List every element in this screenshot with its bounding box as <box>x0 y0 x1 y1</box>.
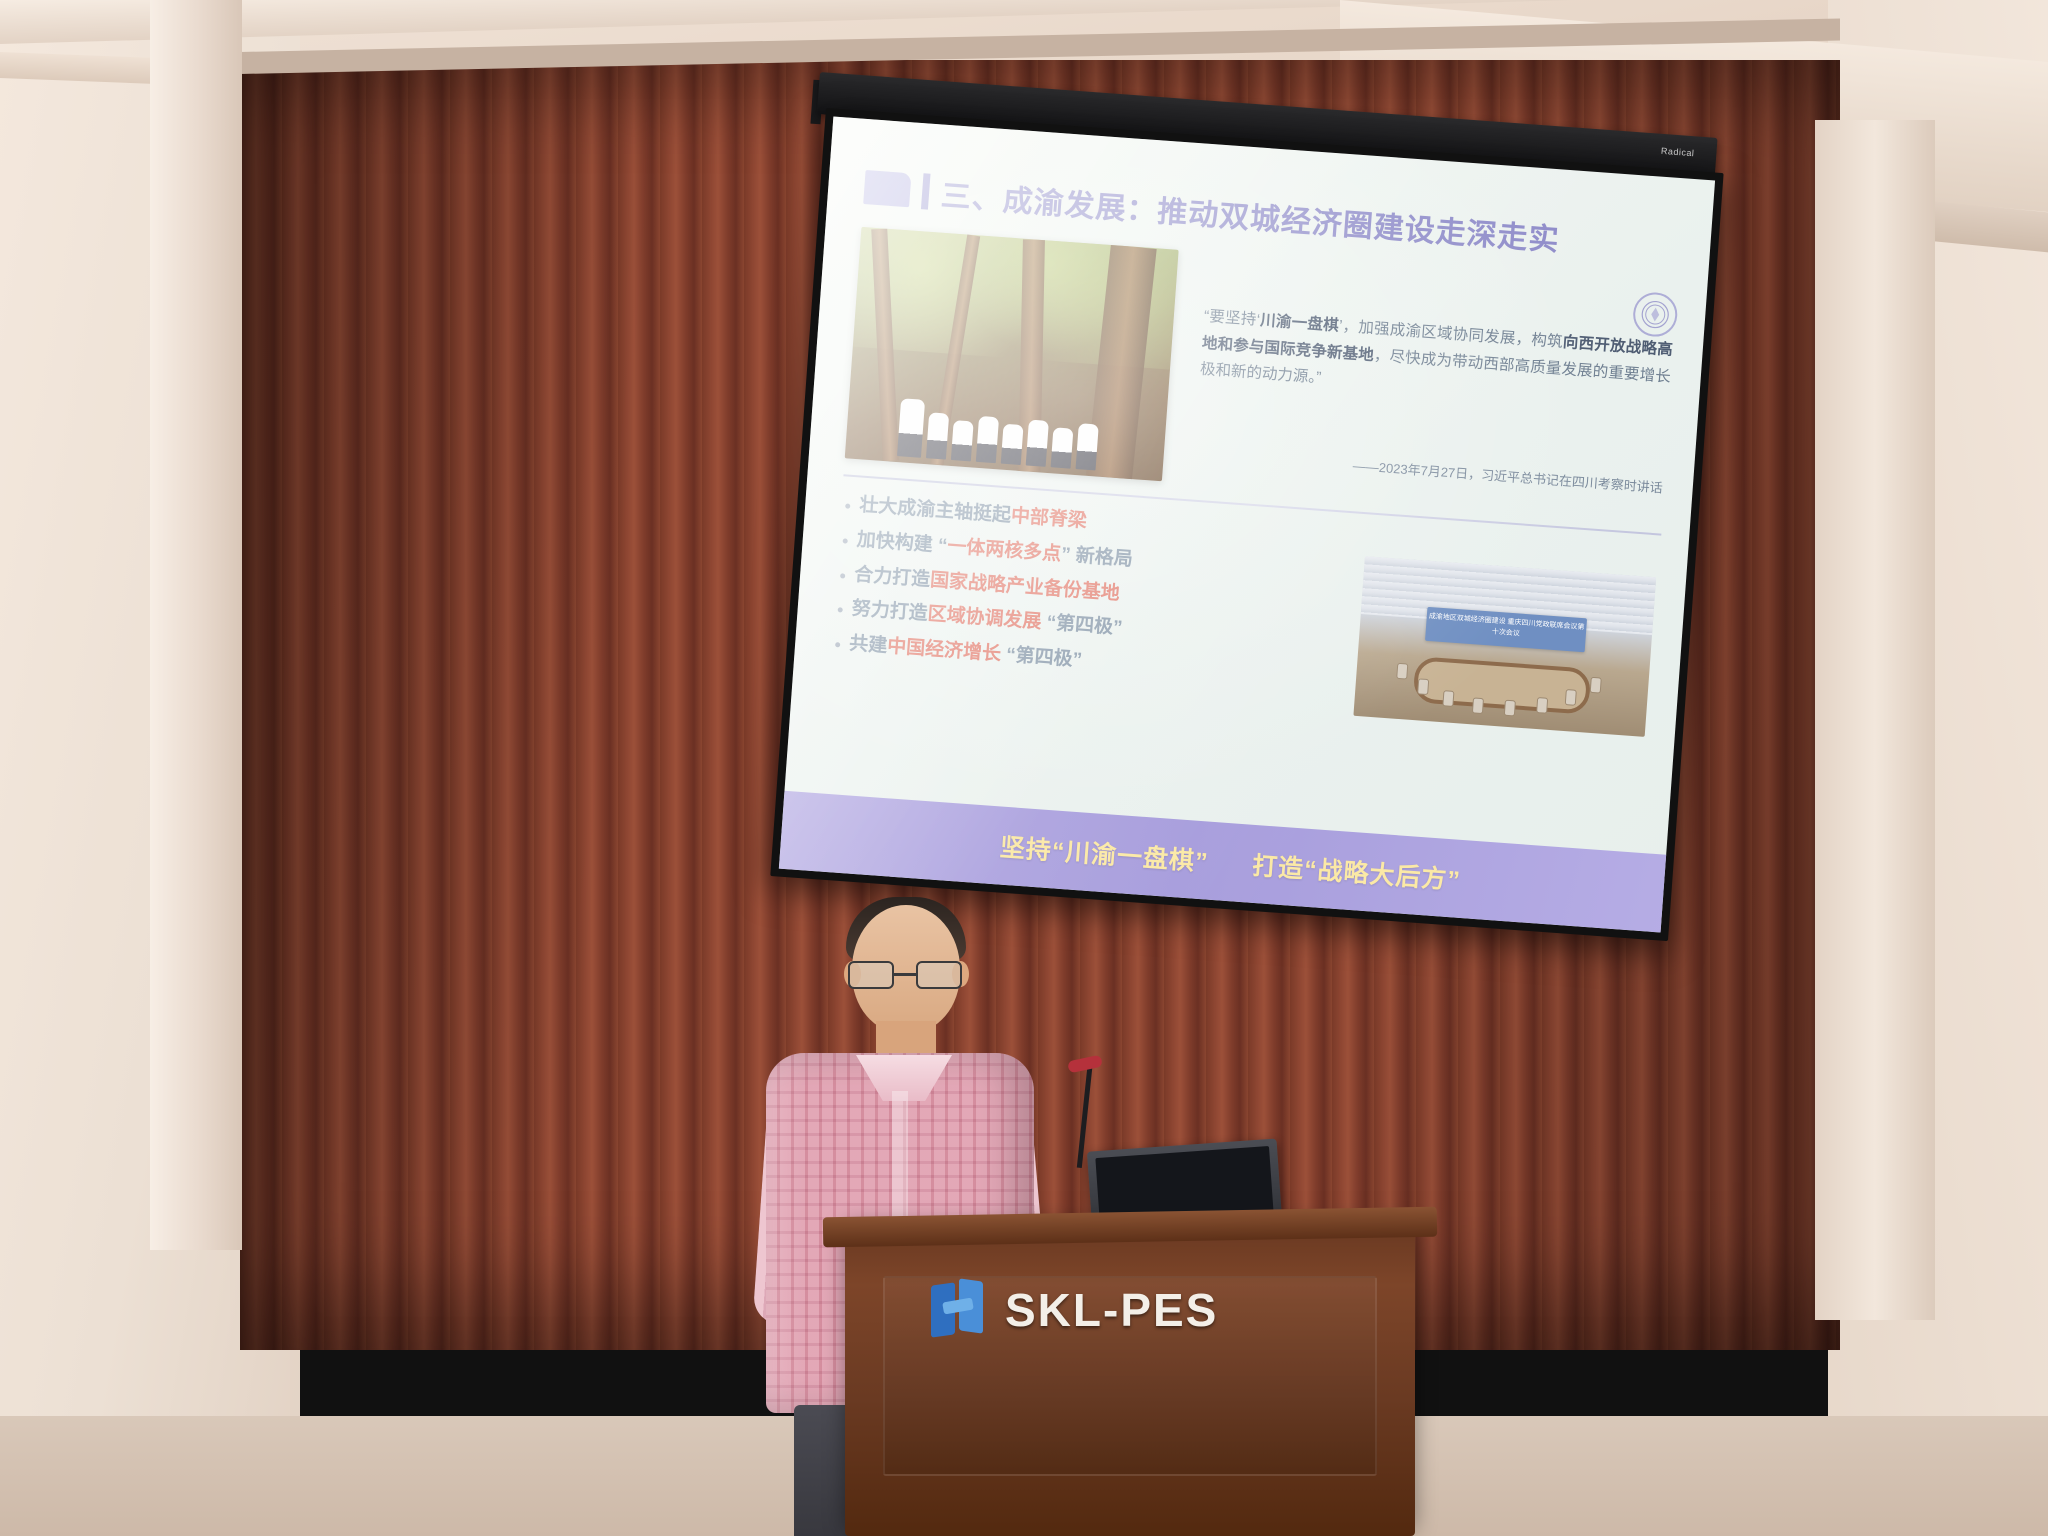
slide-bullet-list: 壮大成渝主轴挺起中部脊梁 加快构建 “一体两核多点” 新格局 合力打造国家战略产… <box>834 492 1345 701</box>
slide-photo-meeting-room: 成渝地区双城经济圈建设 重庆四川党政联席会议第十次会议 <box>1353 556 1656 737</box>
bullet-lead: 合力打造 <box>854 564 931 590</box>
right-pillar <box>1815 120 1935 1320</box>
meeting-room-chair <box>1417 678 1429 695</box>
title-flag-shape <box>863 170 911 207</box>
meeting-room-banner-text: 成渝地区双城经济圈建设 重庆四川党政联席会议第十次会议 <box>1426 612 1587 645</box>
slide-canvas: 三、成渝发展：推动双城经济圈建设走深走实 <box>779 117 1715 933</box>
photo-person <box>1001 424 1024 465</box>
bullet-dot-icon <box>845 503 850 508</box>
bullet-highlight: 区域协调发展 <box>927 604 1042 633</box>
glasses-icon <box>846 961 966 991</box>
podium-branding: SKL-PES <box>931 1280 1218 1340</box>
meeting-room-chair <box>1536 697 1548 714</box>
bullet-lead: 壮大成渝主轴挺起 <box>859 494 1012 526</box>
podium-logo-text: SKL-PES <box>1005 1283 1218 1337</box>
photo-person <box>926 412 949 459</box>
meeting-room-chair <box>1565 689 1577 706</box>
bullet-highlight: 一体两核多点 <box>947 536 1062 565</box>
glasses-bridge <box>894 973 916 976</box>
quote-part-1: “要坚持‘ <box>1203 308 1260 329</box>
glasses-lens <box>848 961 894 989</box>
bullet-highlight: 中部脊梁 <box>1010 505 1087 531</box>
left-pillar <box>150 0 242 1250</box>
bullet-lead: 共建 <box>849 633 888 657</box>
meeting-room-chair <box>1442 690 1454 707</box>
bullet-lead: 努力打造 <box>851 598 928 624</box>
photo-person <box>897 398 925 458</box>
meeting-room-chair <box>1504 700 1516 717</box>
bullet-dot-icon <box>835 642 840 647</box>
meeting-room-table <box>1413 656 1592 715</box>
university-crest-icon <box>1632 291 1679 338</box>
bullet-tail: “第四极” <box>1000 644 1083 671</box>
photo-people-group <box>897 398 1100 470</box>
slide-photo-forest <box>845 227 1179 481</box>
housing-brand-label: Radical <box>1661 146 1695 158</box>
photo-person <box>976 416 999 463</box>
photo-person <box>951 420 974 461</box>
footer-slogan-left: 坚持“川渝一盘棋” <box>999 828 1210 879</box>
projection-screen: 三、成渝发展：推动双城经济圈建设走深走实 <box>770 108 1723 941</box>
meeting-room-chair <box>1472 697 1484 714</box>
slide-quote: “要坚持‘川渝一盘棋’，加强成渝区域协同发展，构筑向西开放战略高地和参与国际竞争… <box>1199 304 1674 418</box>
photo-person <box>1026 420 1049 467</box>
bullet-highlight: 中国经济增长 <box>886 636 1001 665</box>
bullet-lead: 加快构建 “ <box>856 529 948 557</box>
bullet-dot-icon <box>838 607 843 612</box>
bullet-tail: “第四极” <box>1041 612 1124 639</box>
glasses-lens <box>916 961 962 989</box>
skl-pes-logo-icon <box>931 1280 987 1340</box>
photo-person <box>1076 423 1099 470</box>
bullet-highlight: 国家战略产业备份基地 <box>929 569 1120 604</box>
meeting-room-chair <box>1396 663 1408 680</box>
footer-slogan-right: 打造“战略大后方” <box>1251 846 1462 897</box>
bullet-tail: ” 新格局 <box>1060 544 1133 570</box>
bullet-dot-icon <box>840 573 845 578</box>
lecture-hall-photo: Radical 三、成渝发展：推动双城经济圈建设走深走实 <box>0 0 2048 1536</box>
title-bar-shape <box>921 173 931 209</box>
podium: SKL-PES <box>845 1230 1415 1536</box>
slide-quote-attribution: ——2023年7月27日，习近平总书记在四川考察时讲话 <box>1193 444 1663 497</box>
meeting-room-chair <box>1590 677 1602 694</box>
quote-bold-1: 川渝一盘棋 <box>1259 312 1339 335</box>
photo-person <box>1051 427 1074 468</box>
bullet-dot-icon <box>843 538 848 543</box>
